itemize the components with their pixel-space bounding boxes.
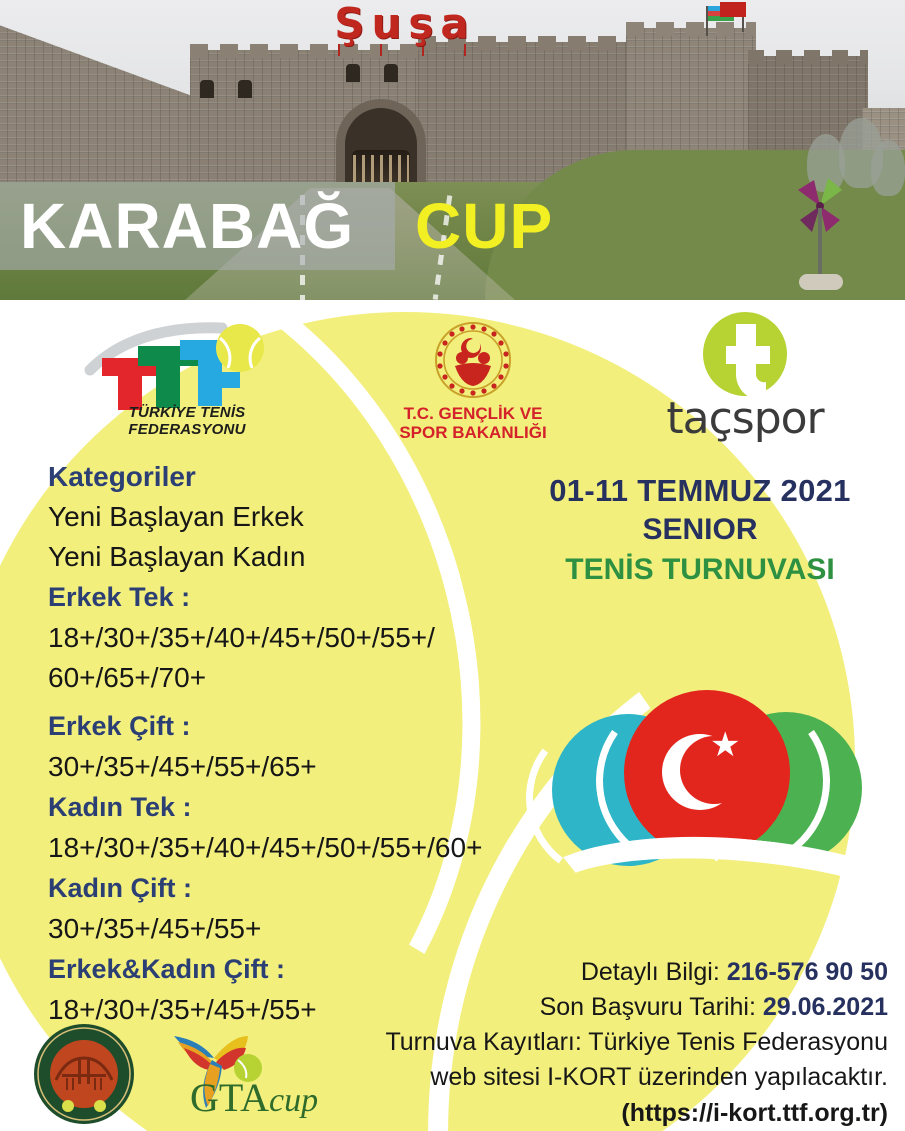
susa-sign-text: Şuşa bbox=[305, 2, 505, 48]
crenellation-tower bbox=[748, 50, 868, 64]
ttf-logo-icon bbox=[72, 318, 302, 418]
turkish-crescent-star-icon: ★ bbox=[650, 722, 760, 830]
category-values-kadin-tek: 18+/30+/35+/40+/45+/50+/55+/60+ bbox=[48, 828, 548, 868]
ttf-logo: TÜRKİYE TENİS FEDERASYONU bbox=[72, 318, 302, 438]
sponsor-logo-row: TÜRKİYE TENİS FEDERASYONU bbox=[0, 300, 905, 445]
pinwheel-pole bbox=[818, 208, 822, 280]
ministry-logo: T.C. GENÇLİK VE SPOR BAKANLIĞI bbox=[378, 320, 568, 442]
event-type: TENİS TURNUVASI bbox=[505, 550, 895, 590]
star-icon: ★ bbox=[710, 728, 740, 762]
pinwheel-base bbox=[799, 274, 843, 290]
deadline-date: 29.06.2021 bbox=[763, 993, 888, 1021]
tournament-poster: Şuşa KARABAĞ CUP TÜRKİYE TENİS FEDERASYO… bbox=[0, 0, 905, 1131]
contact-info-label: Detaylı Bilgi: bbox=[581, 958, 720, 986]
registration-url[interactable]: (https://i-kort.ttf.org.tr) bbox=[330, 1095, 888, 1131]
gtacup-name-main: GTA bbox=[190, 1075, 269, 1120]
gtacup-label: GTAcup bbox=[190, 1077, 318, 1122]
flag-turkey bbox=[720, 2, 746, 17]
event-level: SENIOR bbox=[505, 510, 895, 550]
event-dates: 01-11 TEMMUZ 2021 bbox=[505, 472, 895, 510]
event-info-block: 01-11 TEMMUZ 2021 SENIOR TENİS TURNUVASI bbox=[505, 472, 895, 590]
category-label-kadin-cift: Kadın Çift : bbox=[48, 868, 548, 909]
atasehir-tenis-kulubu-icon bbox=[32, 1022, 136, 1126]
categories-block: Kategoriler Yeni Başlayan Erkek Yeni Baş… bbox=[48, 457, 548, 1030]
registration-line-1: Turnuva Kayıtları: Türkiye Tenis Federas… bbox=[330, 1025, 888, 1060]
ministry-logo-label: T.C. GENÇLİK VE SPOR BAKANLIĞI bbox=[378, 404, 568, 442]
category-label-erkek-cift: Erkek Çift : bbox=[48, 706, 548, 747]
hero-photo-shusha-fortress: Şuşa KARABAĞ CUP bbox=[0, 0, 905, 300]
poster-title-cup: CUP bbox=[415, 190, 553, 262]
pinwheel-sculpture bbox=[787, 172, 857, 252]
contact-info-row: Detaylı Bilgi: 216-576 90 50 bbox=[330, 955, 888, 990]
crenellation-right bbox=[626, 22, 756, 36]
tacspor-logo-icon bbox=[640, 312, 850, 400]
category-values-erkek-tek-2: 60+/65+/70+ bbox=[48, 658, 548, 698]
wall-slit bbox=[238, 80, 252, 98]
ttf-logo-label: TÜRKİYE TENİS FEDERASYONU bbox=[72, 404, 302, 438]
wall-slit bbox=[346, 64, 360, 82]
deadline-label: Son Başvuru Tarihi: bbox=[540, 993, 756, 1021]
category-values-erkek-tek-1: 18+/30+/35+/40+/45+/50+/55+/ bbox=[48, 618, 548, 658]
category-label-erkek-tek: Erkek Tek : bbox=[48, 577, 548, 618]
ministry-emblem-icon bbox=[378, 320, 568, 402]
poster-title-karabag: KARABAĞ bbox=[20, 190, 354, 262]
contact-block: Detaylı Bilgi: 216-576 90 50 Son Başvuru… bbox=[330, 955, 888, 1131]
category-values-kadin-cift: 30+/35+/45+/55+ bbox=[48, 909, 548, 949]
category-label-kadin-tek: Kadın Tek : bbox=[48, 787, 548, 828]
spacer bbox=[48, 698, 548, 706]
wall-slit bbox=[200, 80, 214, 98]
category-open-line: Yeni Başlayan Erkek bbox=[48, 497, 548, 537]
atasehir-tenis-kulubu-logo bbox=[32, 1022, 136, 1126]
tacspor-logo: taçspor bbox=[640, 312, 850, 442]
gtacup-logo: GTAcup bbox=[160, 1020, 340, 1128]
category-values-erkek-cift: 30+/35+/45+/55+/65+ bbox=[48, 747, 548, 787]
contact-phone: 216-576 90 50 bbox=[727, 958, 888, 986]
categories-heading: Kategoriler bbox=[48, 457, 548, 497]
gtacup-name-suffix: cup bbox=[269, 1082, 318, 1119]
contact-deadline-row: Son Başvuru Tarihi: 29.06.2021 bbox=[330, 990, 888, 1025]
tacspor-logo-label: taçspor bbox=[640, 396, 850, 442]
tree bbox=[871, 140, 905, 196]
ministry-name-line1: T.C. GENÇLİK VE bbox=[404, 404, 543, 423]
registration-line-2: web sitesi I-KORT üzerinden yapılacaktır… bbox=[330, 1060, 888, 1095]
wall-slit bbox=[384, 64, 398, 82]
category-open-line: Yeni Başlayan Kadın bbox=[48, 537, 548, 577]
ministry-name-line2: SPOR BAKANLIĞI bbox=[399, 423, 546, 442]
